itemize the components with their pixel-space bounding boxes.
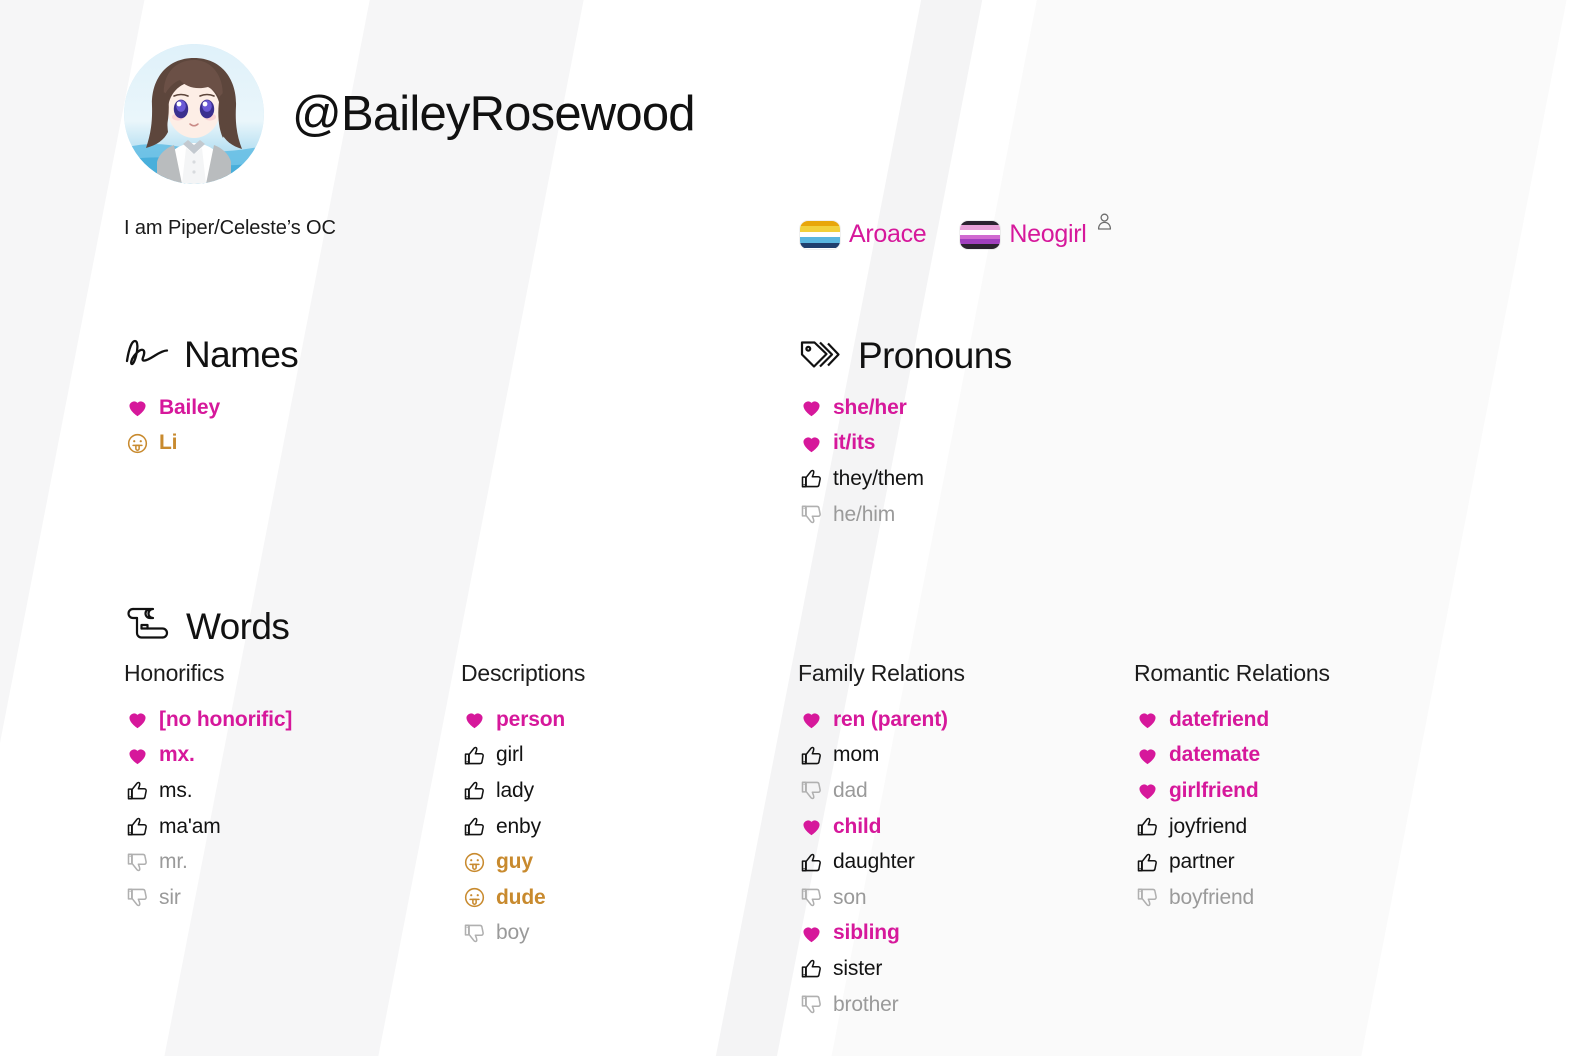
- thumbs-up-icon: [1136, 851, 1159, 874]
- entry-label: he/him: [833, 503, 895, 527]
- thumbs-up-icon: [463, 815, 486, 838]
- thumbs-down-icon: [800, 779, 823, 802]
- entry-label: lady: [496, 779, 534, 803]
- entry-label: mr.: [159, 850, 188, 874]
- thumbs-down-icon: [800, 886, 823, 909]
- entry-label: guy: [496, 850, 533, 874]
- pronouns-list: she/her it/its they/them: [800, 390, 924, 532]
- list-item[interactable]: it/its: [800, 426, 924, 462]
- username: @BaileyRosewood: [292, 86, 695, 142]
- entry-label: boyfriend: [1169, 886, 1254, 910]
- thumbs-up-icon: [463, 744, 486, 767]
- flag-badge-aroace[interactable]: Aroace: [800, 220, 926, 249]
- list-item[interactable]: girl: [463, 738, 585, 774]
- list-item[interactable]: datefriend: [1136, 702, 1330, 738]
- person-icon: [1097, 213, 1112, 235]
- tongue-out-icon: [126, 432, 149, 455]
- thumbs-up-icon: [800, 957, 823, 980]
- section-title: Pronouns: [858, 335, 1012, 377]
- heart-icon: [800, 432, 823, 455]
- list-item[interactable]: joyfriend: [1136, 809, 1330, 845]
- words-column-descriptions: Descriptions person girl lady enby: [461, 660, 585, 951]
- entry-label: they/them: [833, 467, 924, 491]
- profile-header: @BaileyRosewood: [124, 44, 695, 184]
- entry-label: it/its: [833, 431, 875, 455]
- thumbs-up-icon: [1136, 815, 1159, 838]
- words-column-honorifics: Honorifics [no honorific] mx. ms. ma'am: [124, 660, 292, 916]
- section-header-words: Words: [124, 604, 289, 649]
- list-item[interactable]: they/them: [800, 461, 924, 497]
- words-column-family-relations: Family Relations ren (parent) mom dad ch…: [798, 660, 965, 1022]
- column-title: Romantic Relations: [1134, 660, 1330, 687]
- flag-label: Neogirl: [1009, 220, 1086, 249]
- column-title: Honorifics: [124, 660, 292, 687]
- list-item[interactable]: son: [800, 880, 965, 916]
- list-item[interactable]: daughter: [800, 844, 965, 880]
- entry-label: ma'am: [159, 815, 221, 839]
- flag-label: Aroace: [849, 220, 926, 249]
- signature-icon: [124, 335, 170, 376]
- list-item[interactable]: she/her: [800, 390, 924, 426]
- column-title: Descriptions: [461, 660, 585, 687]
- entry-label: mx.: [159, 743, 195, 767]
- column-title: Family Relations: [798, 660, 965, 687]
- entry-label: brother: [833, 993, 899, 1017]
- section-header-pronouns: Pronouns: [798, 334, 1012, 377]
- list-item[interactable]: enby: [463, 809, 585, 845]
- entry-label: daughter: [833, 850, 915, 874]
- list-item[interactable]: boy: [463, 916, 585, 952]
- list-item[interactable]: ma'am: [126, 809, 292, 845]
- flag-badge-neogirl[interactable]: Neogirl: [960, 220, 1111, 249]
- heart-icon: [1136, 708, 1159, 731]
- list-item[interactable]: partner: [1136, 844, 1330, 880]
- profile-bio: I am Piper/Celeste’s OC: [124, 217, 336, 240]
- entry-label: son: [833, 886, 866, 910]
- thumbs-down-icon: [126, 886, 149, 909]
- list-item[interactable]: brother: [800, 987, 965, 1023]
- list-item[interactable]: he/him: [800, 497, 924, 533]
- section-header-names: Names: [124, 334, 298, 376]
- names-list: Bailey Li: [126, 390, 220, 461]
- profile-page: @BaileyRosewood I am Piper/Celeste’s OC …: [0, 0, 1578, 1056]
- heart-icon: [800, 396, 823, 419]
- list-item[interactable]: ms.: [126, 773, 292, 809]
- entry-label: sibling: [833, 921, 900, 945]
- thumbs-up-icon: [126, 815, 149, 838]
- thumbs-up-icon: [800, 744, 823, 767]
- list-item[interactable]: Bailey: [126, 390, 220, 426]
- list-item[interactable]: mr.: [126, 844, 292, 880]
- entry-label: person: [496, 708, 565, 732]
- entry-label: joyfriend: [1169, 815, 1247, 839]
- thumbs-up-icon: [126, 779, 149, 802]
- entry-label: boy: [496, 921, 529, 945]
- entry-label: mom: [833, 743, 879, 767]
- heart-icon: [126, 396, 149, 419]
- thumbs-down-icon: [463, 922, 486, 945]
- list-item[interactable]: person: [463, 702, 585, 738]
- heart-icon: [1136, 744, 1159, 767]
- list-item[interactable]: sir: [126, 880, 292, 916]
- section-title: Names: [184, 334, 298, 376]
- thumbs-up-icon: [800, 851, 823, 874]
- tongue-out-icon: [463, 851, 486, 874]
- entry-label: she/her: [833, 396, 907, 420]
- romantic-relations-list: datefriend datemate girlfriend joyfriend…: [1134, 702, 1330, 916]
- avatar[interactable]: [124, 44, 264, 184]
- heart-icon: [800, 922, 823, 945]
- list-item[interactable]: dude: [463, 880, 585, 916]
- thumbs-up-icon: [463, 779, 486, 802]
- list-item[interactable]: sister: [800, 951, 965, 987]
- entry-label: girlfriend: [1169, 779, 1259, 803]
- heart-icon: [1136, 779, 1159, 802]
- thumbs-down-icon: [800, 503, 823, 526]
- entry-label: child: [833, 815, 881, 839]
- entry-label: dad: [833, 779, 868, 803]
- entry-label: sister: [833, 957, 882, 981]
- list-item[interactable]: lady: [463, 773, 585, 809]
- thumbs-up-icon: [800, 467, 823, 490]
- flag-chip-icon: [960, 221, 1000, 249]
- list-item[interactable]: Li: [126, 426, 220, 462]
- entry-label: datemate: [1169, 743, 1260, 767]
- list-item[interactable]: dad: [800, 773, 965, 809]
- entry-label: dude: [496, 886, 546, 910]
- scroll-icon: [124, 604, 172, 649]
- heart-icon: [463, 708, 486, 731]
- thumbs-down-icon: [800, 993, 823, 1016]
- entry-label: datefriend: [1169, 708, 1269, 732]
- list-item[interactable]: mom: [800, 738, 965, 774]
- words-column-romantic-relations: Romantic Relations datefriend datemate g…: [1134, 660, 1330, 916]
- entry-label: girl: [496, 743, 523, 767]
- flag-chip-icon: [800, 221, 840, 249]
- list-item[interactable]: guy: [463, 844, 585, 880]
- list-item[interactable]: [no honorific]: [126, 702, 292, 738]
- thumbs-down-icon: [126, 851, 149, 874]
- entry-label: Bailey: [159, 396, 220, 420]
- list-item[interactable]: boyfriend: [1136, 880, 1330, 916]
- entry-label: ms.: [159, 779, 192, 803]
- descriptions-list: person girl lady enby guy: [461, 702, 585, 951]
- tag-icon: [798, 334, 844, 377]
- honorifics-list: [no honorific] mx. ms. ma'am mr.: [124, 702, 292, 916]
- list-item[interactable]: datemate: [1136, 738, 1330, 774]
- family-relations-list: ren (parent) mom dad child daughter: [798, 702, 965, 1022]
- section-title: Words: [186, 606, 289, 648]
- list-item[interactable]: girlfriend: [1136, 773, 1330, 809]
- entry-label: [no honorific]: [159, 708, 292, 732]
- thumbs-down-icon: [1136, 886, 1159, 909]
- heart-icon: [126, 744, 149, 767]
- entry-label: sir: [159, 886, 181, 910]
- list-item[interactable]: sibling: [800, 916, 965, 952]
- identity-flags: Aroace Neogirl: [800, 220, 1112, 249]
- heart-icon: [126, 708, 149, 731]
- entry-label: enby: [496, 815, 541, 839]
- entry-label: ren (parent): [833, 708, 948, 732]
- heart-icon: [800, 815, 823, 838]
- heart-icon: [800, 708, 823, 731]
- list-item[interactable]: child: [800, 809, 965, 845]
- entry-label: partner: [1169, 850, 1235, 874]
- list-item[interactable]: ren (parent): [800, 702, 965, 738]
- entry-label: Li: [159, 431, 177, 455]
- list-item[interactable]: mx.: [126, 738, 292, 774]
- tongue-out-icon: [463, 886, 486, 909]
